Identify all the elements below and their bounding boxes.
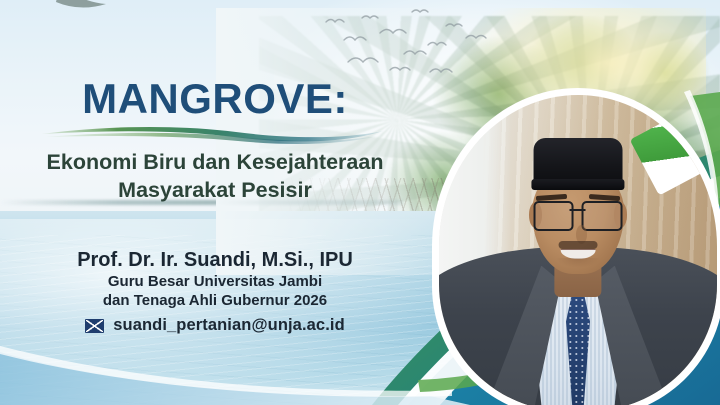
- text-content: MANGROVE: Ekonomi Biru dan Kesejahteraan…: [0, 0, 720, 405]
- contact-email-row[interactable]: suandi_pertanian@unja.ac.id: [0, 316, 430, 335]
- contact-email-text[interactable]: suandi_pertanian@unja.ac.id: [113, 316, 345, 335]
- subtitle-line-1: Ekonomi Biru dan Kesejahteraan: [0, 148, 430, 176]
- poster-title: MANGROVE:: [0, 78, 430, 120]
- poster-canvas: MANGROVE: Ekonomi Biru dan Kesejahteraan…: [0, 0, 720, 405]
- speaker-name: Prof. Dr. Ir. Suandi, M.Si., IPU: [0, 249, 430, 271]
- envelope-icon: [85, 319, 104, 333]
- speaker-role: Guru Besar Universitas Jambi dan Tenaga …: [0, 272, 430, 310]
- speaker-role-line-2: dan Tenaga Ahli Gubernur 2026: [0, 291, 430, 310]
- subtitle-line-2: Masyarakat Pesisir: [0, 176, 430, 204]
- poster-subtitle: Ekonomi Biru dan Kesejahteraan Masyaraka…: [0, 148, 430, 205]
- speaker-role-line-1: Guru Besar Universitas Jambi: [0, 272, 430, 291]
